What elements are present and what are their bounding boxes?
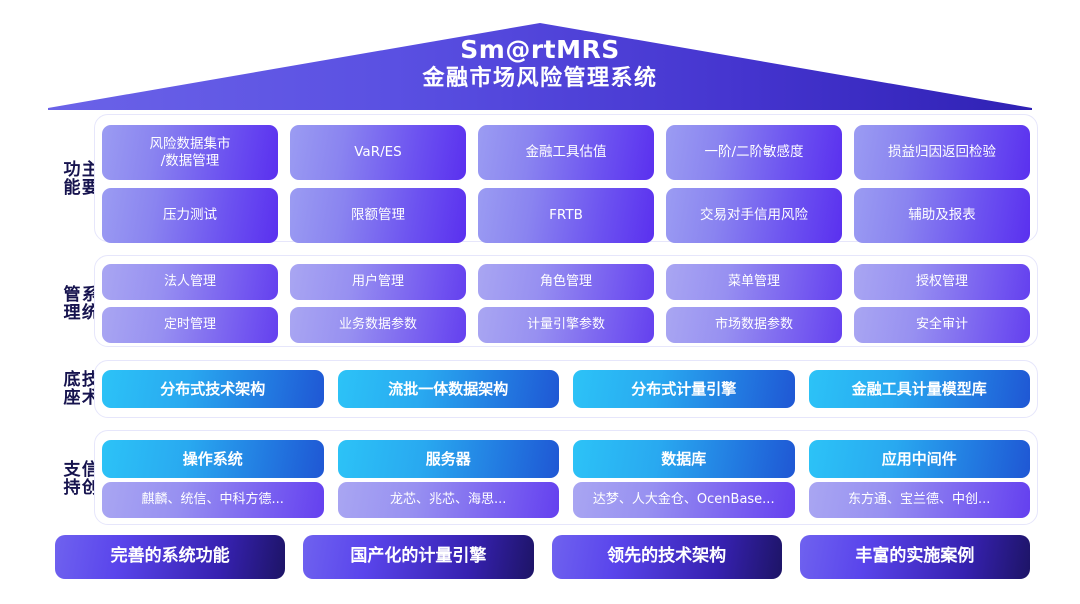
card-schedule-management[interactable]: 定时管理 [102,307,278,343]
card-distributed-calculation-engine[interactable]: 分布式计量引擎 [573,370,795,408]
row-xinchuang-categories: 操作系统 服务器 数据库 应用中间件 [102,440,1030,478]
card-user-management[interactable]: 用户管理 [290,264,466,300]
card-first-second-order-sensitivity[interactable]: 一阶/二阶敏感度 [666,125,842,180]
infographic-canvas: Sm@rtMRS 金融市场风险管理系统 主要 功能 系统 管理 技术 底座 信创… [0,0,1080,604]
card-calculation-engine-parameters[interactable]: 计量引擎参数 [478,307,654,343]
card-financial-instrument-model-library[interactable]: 金融工具计量模型库 [809,370,1031,408]
rail-label-system-management-line2: 管理 [60,285,77,321]
card-financial-instrument-valuation[interactable]: 金融工具估值 [478,125,654,180]
card-os-vendors[interactable]: 麒麟、统信、中科方德... [102,482,324,518]
footer-card-domestic-calculation-engine[interactable]: 国产化的计量引擎 [303,535,533,579]
card-frtb[interactable]: FRTB [478,188,654,243]
row-main-functions-2: 压力测试 限额管理 FRTB 交易对手信用风险 辅助及报表 [102,188,1030,243]
card-var-es[interactable]: VaR/ES [290,125,466,180]
card-limit-management[interactable]: 限额管理 [290,188,466,243]
card-risk-data-mart[interactable]: 风险数据集市 /数据管理 [102,125,278,180]
row-main-functions-1: 风险数据集市 /数据管理 VaR/ES 金融工具估值 一阶/二阶敏感度 损益归因… [102,125,1030,180]
rail-label-technical-base-line2: 底座 [60,370,77,406]
card-counterparty-credit-risk[interactable]: 交易对手信用风险 [666,188,842,243]
card-security-audit[interactable]: 安全审计 [854,307,1030,343]
card-role-management[interactable]: 角色管理 [478,264,654,300]
card-authorization-management[interactable]: 授权管理 [854,264,1030,300]
card-application-middleware[interactable]: 应用中间件 [809,440,1031,478]
footer-card-rich-implementation-cases[interactable]: 丰富的实施案例 [800,535,1030,579]
card-operating-system[interactable]: 操作系统 [102,440,324,478]
card-middleware-vendors[interactable]: 东方通、宝兰德、中创... [809,482,1031,518]
card-business-data-parameters[interactable]: 业务数据参数 [290,307,466,343]
rail-label-xinchuang-support-line2: 支持 [60,460,77,496]
card-stream-batch-data-architecture[interactable]: 流批一体数据架构 [338,370,560,408]
card-legal-entity-management[interactable]: 法人管理 [102,264,278,300]
row-system-management-1: 法人管理 用户管理 角色管理 菜单管理 授权管理 [102,264,1030,300]
card-market-data-parameters[interactable]: 市场数据参数 [666,307,842,343]
card-server-vendors[interactable]: 龙芯、兆芯、海思... [338,482,560,518]
row-technical-base: 分布式技术架构 流批一体数据架构 分布式计量引擎 金融工具计量模型库 [102,370,1030,408]
roof-shape-icon [0,0,1080,112]
card-pnl-attribution-backtesting[interactable]: 损益归因返回检验 [854,125,1030,180]
row-system-management-2: 定时管理 业务数据参数 计量引擎参数 市场数据参数 安全审计 [102,307,1030,343]
card-database[interactable]: 数据库 [573,440,795,478]
card-auxiliary-and-reports[interactable]: 辅助及报表 [854,188,1030,243]
rail-label-main-functions-line2: 功能 [60,160,77,196]
card-database-vendors[interactable]: 达梦、人大金仓、OcenBase... [573,482,795,518]
card-menu-management[interactable]: 菜单管理 [666,264,842,300]
row-xinchuang-vendors: 麒麟、统信、中科方德... 龙芯、兆芯、海思... 达梦、人大金仓、OcenBa… [102,482,1030,518]
footer-card-complete-system-functions[interactable]: 完善的系统功能 [55,535,285,579]
footer-highlights: 完善的系统功能 国产化的计量引擎 领先的技术架构 丰富的实施案例 [55,535,1030,579]
card-stress-testing[interactable]: 压力测试 [102,188,278,243]
card-server[interactable]: 服务器 [338,440,560,478]
roof-header: Sm@rtMRS 金融市场风险管理系统 [0,0,1080,112]
card-distributed-tech-architecture[interactable]: 分布式技术架构 [102,370,324,408]
footer-card-leading-tech-architecture[interactable]: 领先的技术架构 [552,535,782,579]
